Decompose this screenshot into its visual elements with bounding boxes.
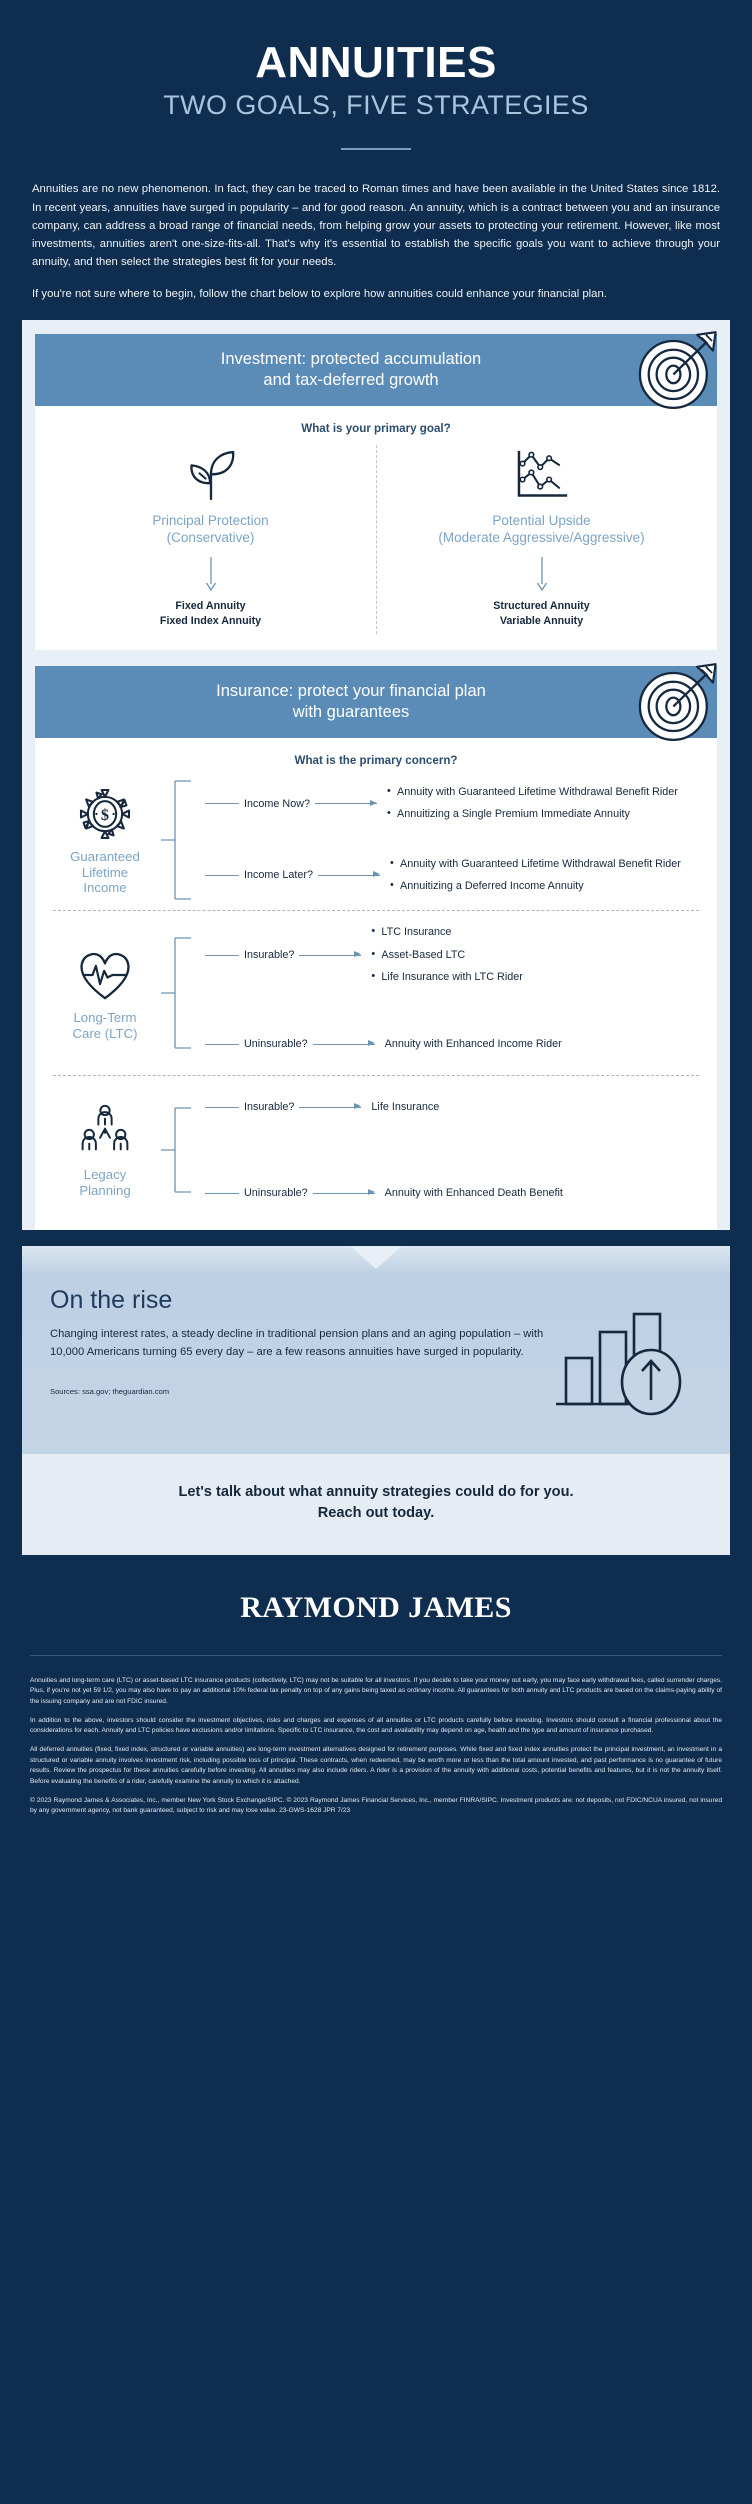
disclaimer-paragraph-3: All deferred annuities (fixed, fixed ind…: [30, 1745, 722, 1788]
arm-line: [205, 1044, 239, 1045]
arm-question: Income Later?: [239, 869, 318, 881]
disclaimer-section: Annuities and long-term care (LTC) or as…: [0, 1656, 752, 1851]
label-line-3: Income: [83, 880, 126, 895]
outcome-item: Annuitizing a Deferred Income Annuity: [390, 879, 705, 894]
label-line-2: Care (LTC): [73, 1026, 138, 1041]
arm-outcome-plain: Life Insurance: [361, 1100, 705, 1115]
svg-text:$: $: [101, 805, 109, 824]
heading-line-1: Potential Upside: [492, 513, 590, 528]
branch-long-term-care: Long-Term Care (LTC) Insurable?: [35, 917, 717, 1069]
intro-section: Annuities are no new phenomenon. In fact…: [0, 150, 752, 303]
arm-legacy-uninsurable: Uninsurable? Annuity with Enhanced Death…: [205, 1176, 705, 1210]
investment-band: Investment: protected accumulation and t…: [35, 334, 717, 406]
option-principal-protection-heading: Principal Protection (Conservative): [51, 513, 370, 547]
branch-legacy-planning: Legacy Planning Insurable?: [35, 1082, 717, 1218]
arm-ltc-insurable: Insurable? LTC Insurance Asset-Based LTC…: [205, 925, 705, 985]
outcome-item: LTC Insurance: [371, 925, 705, 940]
branch-divider: [53, 1075, 699, 1076]
arm-line: [205, 1193, 239, 1194]
down-arrow-icon: [204, 557, 218, 591]
label-line-1: Guaranteed: [70, 849, 140, 864]
arm-line: [205, 1107, 239, 1108]
on-the-rise-body: Changing interest rates, a steady declin…: [50, 1326, 552, 1361]
result-line-2: Fixed Index Annuity: [160, 615, 261, 627]
heart-pulse-icon: [49, 944, 161, 1006]
page-title: ANNUITIES: [20, 40, 732, 86]
outcome-item: Annuity with Guaranteed Lifetime Withdra…: [390, 857, 705, 872]
arm-income-now: Income Now? Annuity with Guaranteed Life…: [205, 785, 705, 823]
arm-arrow-line: [313, 1193, 375, 1194]
gear-dollar-icon: $: [49, 783, 161, 845]
branch-connector: [161, 918, 201, 1068]
branch-tree: Insurable? LTC Insurance Asset-Based LTC…: [161, 925, 705, 1061]
heading-line-1: Principal Protection: [152, 513, 268, 528]
branch-label-block: Legacy Planning: [49, 1101, 161, 1199]
investment-question: What is your primary goal?: [35, 406, 717, 439]
heading-line-2: (Conservative): [167, 530, 255, 545]
arm-arrow-line: [318, 875, 380, 876]
arm-line: [205, 955, 239, 956]
arm-arrow-line: [299, 955, 361, 956]
arm-legacy-insurable: Insurable? Life Insurance: [205, 1090, 705, 1124]
arm-outcomes: LTC Insurance Asset-Based LTC Life Insur…: [361, 925, 705, 985]
on-the-rise-title: On the rise: [50, 1286, 552, 1315]
outcome-item: Life Insurance with LTC Rider: [371, 970, 705, 985]
disclaimer-paragraph-4: © 2023 Raymond James & Associates, Inc.,…: [30, 1796, 722, 1817]
intro-paragraph-2: If you're not sure where to begin, follo…: [32, 285, 720, 303]
arm-outcomes: Annuity with Guaranteed Lifetime Withdra…: [380, 857, 705, 895]
option-potential-upside-heading: Potential Upside (Moderate Aggressive/Ag…: [382, 513, 701, 547]
insurance-branches: $ Guaranteed Lifetime Income: [35, 771, 717, 1231]
option-principal-protection: Principal Protection (Conservative) Fixe…: [45, 447, 376, 630]
option-principal-protection-results: Fixed Annuity Fixed Index Annuity: [51, 599, 370, 630]
branch-label-text: Long-Term Care (LTC): [49, 1010, 161, 1042]
arm-line: [205, 875, 239, 876]
disclaimer-paragraph-1: Annuities and long-term care (LTC) or as…: [30, 1676, 722, 1708]
label-line-2: Lifetime: [82, 865, 128, 880]
insurance-band-title-line1: Insurance: protect your financial plan: [216, 682, 486, 700]
cta-line-2: Reach out today.: [318, 1505, 435, 1521]
result-line-1: Structured Annuity: [493, 600, 589, 612]
decision-chart-card: Investment: protected accumulation and t…: [22, 320, 730, 1230]
arm-outcome-plain: Annuity with Enhanced Death Benefit: [375, 1186, 705, 1201]
raymond-james-logo: RAYMOND JAMES: [0, 1591, 752, 1625]
result-line-1: Fixed Annuity: [175, 600, 245, 612]
insurance-band-title-line2: with guarantees: [293, 703, 410, 721]
branch-connector: [161, 765, 201, 915]
disclaimer-paragraph-2: In addition to the above, investors shou…: [30, 1716, 722, 1737]
label-line-1: Legacy: [84, 1167, 127, 1182]
branch-connector: [161, 1095, 201, 1205]
leaf-sprout-icon: [51, 447, 370, 505]
call-to-action: Let's talk about what annuity strategies…: [22, 1454, 730, 1554]
arm-arrow-line: [315, 803, 377, 804]
outcome-item: Annuitizing a Single Premium Immediate A…: [387, 807, 705, 822]
outcome-item: Annuity with Guaranteed Lifetime Withdra…: [387, 785, 705, 800]
cta-text: Let's talk about what annuity strategies…: [52, 1482, 700, 1524]
branch-label-text: Legacy Planning: [49, 1167, 161, 1199]
investment-options: Principal Protection (Conservative) Fixe…: [35, 439, 717, 650]
cta-line-1: Let's talk about what annuity strategies…: [178, 1484, 573, 1500]
investment-band-title-line1: Investment: protected accumulation: [221, 350, 481, 368]
insurance-band-title: Insurance: protect your financial plan w…: [75, 681, 627, 723]
investment-panel: Investment: protected accumulation and t…: [35, 334, 717, 650]
arm-outcomes: Annuity with Guaranteed Lifetime Withdra…: [377, 785, 705, 823]
target-arrow-icon: [632, 658, 720, 746]
page-subtitle: TWO GOALS, FIVE STRATEGIES: [20, 90, 732, 121]
arm-question: Income Now?: [239, 798, 315, 810]
branch-divider: [53, 910, 699, 911]
arm-arrow-line: [299, 1107, 361, 1108]
section-notch: [350, 1246, 402, 1269]
intro-paragraph-1: Annuities are no new phenomenon. In fact…: [32, 180, 720, 271]
arm-arrow-line: [313, 1044, 375, 1045]
branch-tree: Income Now? Annuity with Guaranteed Life…: [161, 785, 705, 894]
arm-line: [205, 803, 239, 804]
outcome-item: Asset-Based LTC: [371, 948, 705, 963]
arm-outcome-plain: Annuity with Enhanced Income Rider: [375, 1037, 705, 1052]
insurance-question: What is the primary concern?: [35, 738, 717, 771]
option-potential-upside-results: Structured Annuity Variable Annuity: [382, 599, 701, 630]
label-line-1: Long-Term: [73, 1010, 136, 1025]
option-potential-upside: Potential Upside (Moderate Aggressive/Ag…: [376, 447, 707, 630]
arm-question: Uninsurable?: [239, 1187, 313, 1199]
arm-question: Insurable?: [239, 949, 299, 961]
arm-ltc-uninsurable: Uninsurable? Annuity with Enhanced Incom…: [205, 1027, 705, 1061]
down-arrow-icon: [535, 557, 549, 591]
result-line-2: Variable Annuity: [500, 615, 583, 627]
bar-chart-up-arrow-icon: [552, 1286, 702, 1420]
target-arrow-icon: [632, 326, 720, 414]
label-line-2: Planning: [79, 1183, 130, 1198]
infographic-page: ANNUITIES TWO GOALS, FIVE STRATEGIES Ann…: [0, 0, 752, 1851]
investment-band-title-line2: and tax-deferred growth: [263, 371, 438, 389]
on-the-rise-section: On the rise Changing interest rates, a s…: [22, 1246, 730, 1454]
insurance-panel: Insurance: protect your financial plan w…: [35, 666, 717, 1231]
arm-income-later: Income Later? Annuity with Guaranteed Li…: [205, 857, 705, 895]
family-group-icon: [49, 1101, 161, 1163]
branch-label-block: $ Guaranteed Lifetime Income: [49, 783, 161, 897]
on-the-rise-sources: Sources: ssa.gov; theguardian.com: [50, 1387, 552, 1396]
insurance-band: Insurance: protect your financial plan w…: [35, 666, 717, 738]
heading-line-2: (Moderate Aggressive/Aggressive): [438, 530, 644, 545]
arm-question: Insurable?: [239, 1101, 299, 1113]
header: ANNUITIES TWO GOALS, FIVE STRATEGIES: [0, 0, 752, 150]
branch-label-text: Guaranteed Lifetime Income: [49, 849, 161, 897]
branch-guaranteed-lifetime-income: $ Guaranteed Lifetime Income: [35, 775, 717, 905]
line-chart-icon: [382, 447, 701, 505]
branch-label-block: Long-Term Care (LTC): [49, 944, 161, 1042]
branch-tree: Insurable? Life Insurance Uninsurable? A…: [161, 1090, 705, 1210]
investment-band-title: Investment: protected accumulation and t…: [75, 349, 627, 391]
arm-question: Uninsurable?: [239, 1038, 313, 1050]
brand-logo-area: RAYMOND JAMES: [0, 1555, 752, 1655]
